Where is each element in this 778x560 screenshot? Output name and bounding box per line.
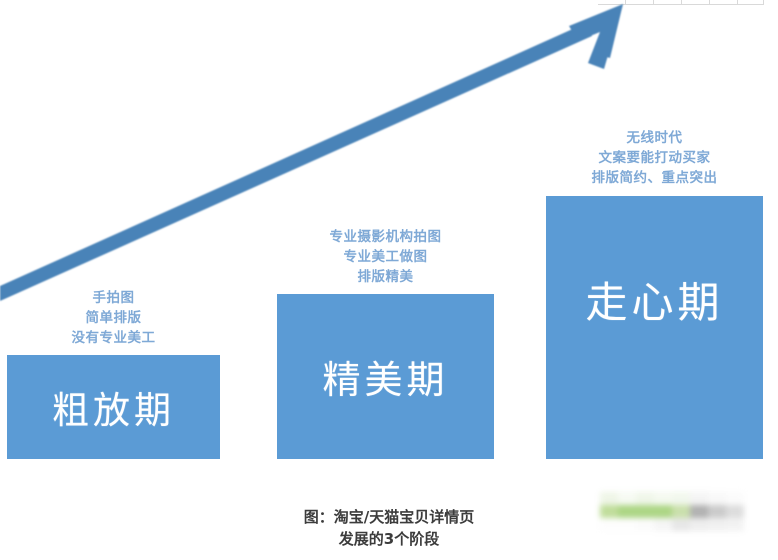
stage-2-note-2: 专业美工做图 [277, 247, 494, 267]
chart-canvas: 手拍图 简单排版 没有专业美工 专业摄影机构拍图 专业美工做图 排版精美 无线时… [0, 0, 778, 560]
figure-caption-line-2: 发展的3个阶段 [239, 528, 539, 550]
bar-stage-2: 精美期 [277, 294, 494, 459]
bar-stage-2-label: 精美期 [322, 349, 448, 404]
stage-2-note-3: 排版精美 [277, 267, 494, 287]
stage-2-note-1: 专业摄影机构拍图 [277, 227, 494, 247]
figure-caption-line-1: 图：淘宝/天猫宝贝详情页 [239, 506, 539, 528]
bar-stage-1-label: 粗放期 [52, 380, 175, 434]
stage-3-note-3: 排版简约、重点突出 [546, 168, 763, 188]
blurred-watermark [600, 492, 760, 532]
stage-1-note-1: 手拍图 [7, 288, 220, 308]
spreadsheet-gridlines [598, 0, 764, 5]
bar-stage-3: 走心期 [546, 196, 763, 459]
stage-1-note-2: 简单排版 [7, 308, 220, 328]
bar-stage-3-label: 走心期 [585, 269, 723, 330]
stage-1-notes: 手拍图 简单排版 没有专业美工 [7, 288, 220, 348]
figure-caption: 图：淘宝/天猫宝贝详情页 发展的3个阶段 [239, 506, 539, 550]
stage-3-note-1: 无线时代 [546, 128, 763, 148]
stage-3-note-2: 文案要能打动买家 [546, 148, 763, 168]
stage-2-notes: 专业摄影机构拍图 专业美工做图 排版精美 [277, 227, 494, 287]
bar-stage-1: 粗放期 [7, 355, 220, 459]
stage-3-notes: 无线时代 文案要能打动买家 排版简约、重点突出 [546, 128, 763, 188]
stage-1-note-3: 没有专业美工 [7, 328, 220, 348]
